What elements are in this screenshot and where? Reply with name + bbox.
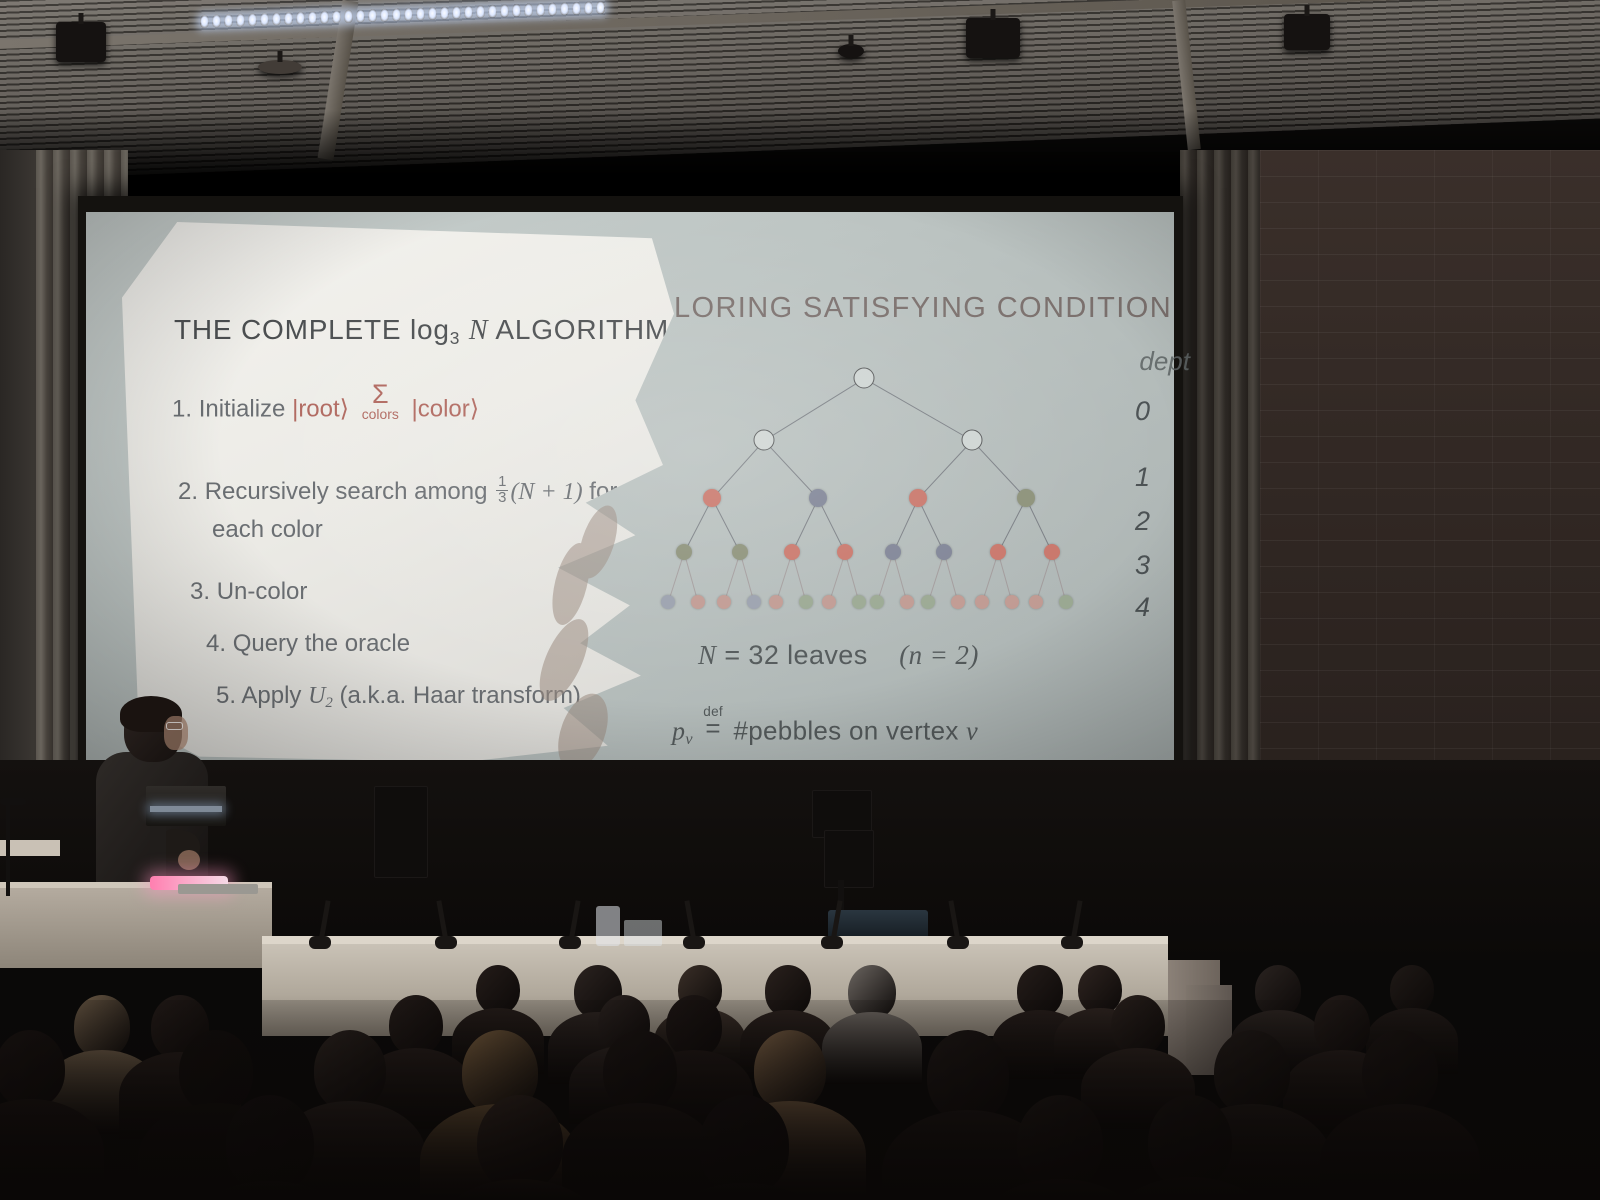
step5-num: 5. [216,682,236,709]
summation-symbol: Σ colors [362,382,399,421]
ceiling-lamp [320,10,329,23]
slide-complete-algorithm: THE COMPLETE log3 N ALGORITHM 1. Initial… [122,222,674,762]
depth-value-4: 4 [1135,592,1150,623]
fraction-numerator: 1 [496,475,508,491]
ceiling-lamp [380,8,389,21]
ceiling-lamp [500,4,509,17]
depth-value-0: 0 [1135,396,1150,427]
ceiling-lamp [464,5,473,18]
presenter-hand [178,850,200,870]
desk-microphone-head [947,936,969,949]
step2-num: 2. [178,478,198,505]
desk-microphone-head [821,936,843,949]
tree-node-leaf [1005,595,1019,609]
pebbles-lhs-sub: v [685,731,692,748]
pebbles-lhs: p [672,716,685,745]
left-slide-title: THE COMPLETE log3 N ALGORITHM [174,314,669,349]
step1-ket-color: |color⟩ [411,396,479,423]
tree-edge [764,440,819,499]
grey-device-on-lectern [178,884,258,894]
desk-microphone-head [1061,936,1083,949]
tree-node-root [854,368,875,389]
algorithm-step-5: 5. Apply U2 (a.k.a. Haar transform) [216,678,581,714]
ceiling-lamp [260,12,269,25]
ceiling-lamp [392,7,401,20]
ceiling-lamp [572,1,581,14]
formula-leaves-value: 32 [748,640,779,670]
formula-leaves: N = 32 leaves (n = 2) [698,640,979,671]
loudspeaker-left-stage [374,786,428,878]
ceiling-lamp [224,13,233,26]
ceiling-lamp [344,9,353,22]
step2-tail: for [589,478,617,505]
depth-axis-label: dept [1139,346,1190,377]
tree-node-depth3 [732,544,748,560]
step2-expr: (N + 1) [510,479,582,505]
tree-node-depth2 [909,489,927,507]
ceiling-lamp [524,3,533,16]
lecture-hall-photo: OLORING SATISFYING CONDITION dept 01234 … [0,0,1600,1200]
laptop-screen-glow [150,806,222,812]
stage-spotlight-left [56,22,106,62]
tree-edge [972,440,1027,499]
title-log-base: 3 [450,328,460,348]
ceiling-lamp [416,7,425,20]
tree-node-leaf [691,595,705,609]
step3-text: Un-color [217,578,308,605]
step1-ket-root: |root⟩ [292,396,349,423]
title-pre: THE COMPLETE log [174,314,450,345]
step3-num: 3. [190,578,210,605]
desk-microphone-head [435,936,457,949]
algorithm-step-2: 2. Recursively search among 1 3 (N + 1) … [178,474,617,510]
water-carafe [596,906,620,946]
tree-node-depth3 [885,544,901,560]
tree-node-leaf [1029,595,1043,609]
tree-node-leaf [900,595,914,609]
tree-node-depth3 [837,544,853,560]
def-equals-symbol: def = [703,706,723,740]
tree-node-depth1 [754,430,775,451]
sigma-glyph: Σ [362,382,399,408]
microphone-head-stage [0,798,26,805]
tree-node-leaf [717,595,731,609]
ceiling-lamp [272,12,281,25]
loudspeaker-lower [824,830,874,888]
sum-subscript-colors: colors [362,408,399,421]
tree-node-leaf [661,595,675,609]
step5-operator: U [308,683,325,709]
ceiling-lamp [356,9,365,22]
tree-node-depth3 [1044,544,1060,560]
pebbles-rhs: #pebbles on vertex [734,715,959,745]
ceiling-lamp [284,11,293,24]
step5-operator-sub: 2 [325,695,332,711]
desk-microphone-head [683,936,705,949]
tree-edge [918,440,973,499]
formula-leaves-word: leaves [787,640,867,670]
tree-node-depth1 [962,430,983,451]
ceiling-lamp [332,10,341,23]
def-eq-glyph: = [705,713,720,743]
tree-node-depth2 [1017,489,1035,507]
algorithm-step-1: 1. Initialize |root⟩ Σ colors |color⟩ [172,382,479,428]
step1-num: 1. [172,396,192,423]
pebbles-rhs-var: v [966,716,978,745]
tree-node-leaf [870,595,884,609]
tree-node-leaf [747,595,761,609]
ceiling-lamp [476,5,485,18]
ceiling-lamp [452,5,461,18]
tree-node-leaf [769,595,783,609]
tree-node-leaf [975,595,989,609]
ceiling-dome-left [258,60,302,74]
ceiling-lamp [368,8,377,21]
algorithm-step-2-cont: each color [212,512,323,548]
tree-node-leaf [799,595,813,609]
step2-continuation: each color [212,516,323,543]
formula-leaves-eq: = [724,640,740,670]
ceiling-lamp [236,13,245,26]
tree-node-leaf [921,595,935,609]
ceiling-lamp [212,14,221,27]
step2-text: Recursively search among [205,478,488,505]
stage-spotlight-mid [966,18,1020,58]
ceiling-lamp [548,2,557,15]
tree-edge [764,378,865,441]
ceiling-lamp [584,1,593,14]
ceiling-lamp [248,12,257,25]
step4-num: 4. [206,630,226,657]
tree-edge [864,378,973,441]
ceiling-lamp [596,0,605,13]
ceiling-lamp [308,10,317,23]
tree-node-depth3 [676,544,692,560]
step5-text: Apply [241,682,301,709]
desk-microphone-head [559,936,581,949]
one-third-fraction: 1 3 [496,475,508,506]
ceiling-lamp [404,7,413,20]
step5-tail: (a.k.a. Haar transform) [340,682,581,709]
ceiling-lamp [296,11,305,24]
ceiling-vent [838,44,864,58]
tree-node-depth2 [703,489,721,507]
presenter-glasses [166,722,183,730]
lectern [0,888,272,968]
tree-node-depth3 [784,544,800,560]
projection-screen: OLORING SATISFYING CONDITION dept 01234 … [86,212,1174,774]
ceiling-lamp [560,2,569,15]
depth-value-3: 3 [1135,550,1150,581]
depth-value-2: 2 [1135,506,1150,537]
binary-tree-diagram [640,368,1080,598]
desk-microphone-head [309,936,331,949]
ceiling-lamp [512,3,521,16]
tree-edge [712,440,765,499]
tree-node-leaf [822,595,836,609]
formula-leaves-N: N [698,640,716,670]
ceiling-lamp [488,4,497,17]
formula-pebbles: pv def = #pebbles on vertex v [672,706,978,749]
step4-text: Query the oracle [233,630,410,657]
fraction-denominator: 3 [498,490,506,506]
ceiling-lamp [536,2,545,15]
tree-node-leaf [951,595,965,609]
depth-value-1: 1 [1135,462,1150,493]
ceiling-lamp [428,6,437,19]
algorithm-step-3: 3. Un-color [190,574,307,610]
tree-node-depth3 [990,544,1006,560]
algorithm-step-4: 4. Query the oracle [206,626,410,662]
title-post: ALGORITHM [488,314,669,345]
drinking-glasses [624,920,662,946]
slide-coloring-conditions: OLORING SATISFYING CONDITION dept 01234 … [640,218,1174,770]
tree-node-leaf [852,595,866,609]
ceiling-lamp [200,14,209,27]
ceiling-lamp [440,6,449,19]
tree-node-depth2 [809,489,827,507]
formula-leaves-paren: (n = 2) [899,640,979,670]
tree-node-leaf [1059,595,1073,609]
right-slide-title: OLORING SATISFYING CONDITION [650,292,1172,325]
step1-text: Initialize [199,396,286,423]
stage-spotlight-right [1284,14,1330,50]
title-var-N: N [469,315,488,346]
audience-foreground-shadow [0,1000,1600,1200]
microphone-stand-stage [6,800,10,896]
tree-node-depth3 [936,544,952,560]
